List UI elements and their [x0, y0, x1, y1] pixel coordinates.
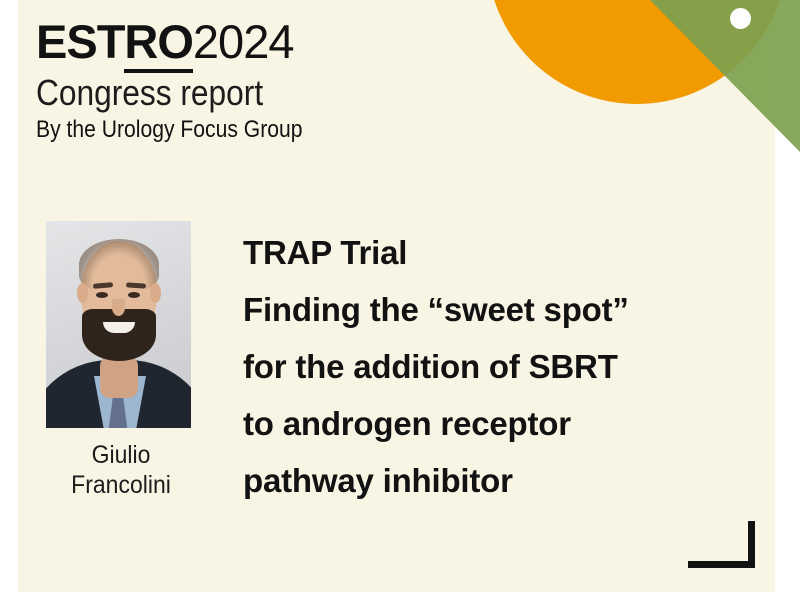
speaker-name: Giulio Francolini [52, 440, 190, 500]
congress-report-card: ESTRO2024 Congress report By the Urology… [0, 0, 800, 600]
estro-wordmark: ESTRO [36, 15, 193, 73]
brand-header: ESTRO2024 Congress report By the Urology… [36, 16, 496, 144]
corner-bracket-icon [688, 521, 755, 568]
title-line-3: for the addition of SBRT [243, 338, 763, 395]
speaker-photo [46, 221, 191, 428]
estro-wordmark-prefix: EST [36, 15, 124, 68]
corner-bracket-horizontal-bar [688, 561, 755, 568]
photo-ear-right [150, 283, 161, 303]
photo-neck [100, 356, 138, 398]
speaker-last-name: Francolini [52, 470, 190, 500]
photo-ear-left [77, 283, 88, 303]
corner-bracket-vertical-bar [748, 521, 755, 568]
estro-logo-year: 2024 [193, 15, 294, 68]
report-kicker: Congress report [36, 72, 441, 114]
photo-hair [79, 239, 159, 291]
estro-wordmark-underlined: RO [124, 15, 193, 73]
photo-eye-left [96, 292, 108, 298]
presentation-title: TRAP Trial Finding the “sweet spot” for … [243, 224, 763, 509]
report-byline: By the Urology Focus Group [36, 116, 441, 144]
title-line-2: Finding the “sweet spot” [243, 281, 763, 338]
estro-logo: ESTRO2024 [36, 16, 496, 68]
title-line-4: to androgen receptor [243, 395, 763, 452]
title-line-5: pathway inhibitor [243, 452, 763, 509]
photo-nose [112, 299, 125, 316]
speaker-first-name: Giulio [52, 440, 190, 470]
title-line-1: TRAP Trial [243, 224, 763, 281]
speaker-block: Giulio Francolini [46, 221, 196, 500]
photo-eye-right [128, 292, 140, 298]
